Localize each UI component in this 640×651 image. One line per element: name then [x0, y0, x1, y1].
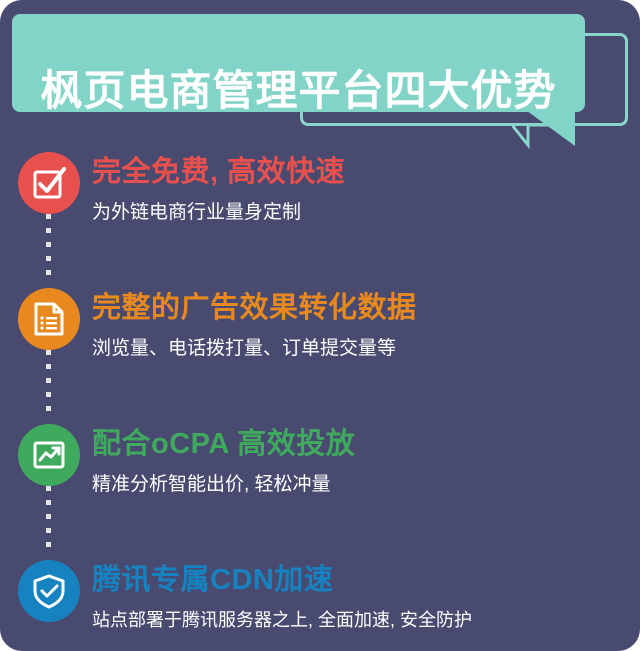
dotted-connector [46, 486, 51, 556]
dotted-connector [46, 350, 51, 420]
feature-subtitle: 精准分析智能出价, 轻松冲量 [92, 459, 632, 497]
feature-icon-badge [18, 152, 80, 214]
feature-icon-badge [18, 560, 80, 622]
feature-subtitle: 为外链电商行业量身定制 [92, 187, 632, 225]
feature-subtitle: 浏览量、电话拨打量、订单提交量等 [92, 323, 632, 361]
infographic-poster: 枫页电商管理平台四大优势 完全免费, 高效快速 为外链电商行业量身定制 [0, 0, 640, 651]
feature-text-block: 腾讯专属CDN加速 站点部署于腾讯服务器之上, 全面加速, 安全防护 [92, 556, 632, 632]
feature-icon-badge [18, 424, 80, 486]
feature-title: 腾讯专属CDN加速 [92, 556, 632, 595]
feature-text-block: 完全免费, 高效快速 为外链电商行业量身定制 [92, 148, 632, 225]
feature-item: 完全免费, 高效快速 为外链电商行业量身定制 [0, 148, 640, 284]
chart-trend-up-icon [30, 436, 68, 474]
feature-subtitle: 站点部署于腾讯服务器之上, 全面加速, 安全防护 [92, 595, 632, 632]
feature-icon-badge [18, 288, 80, 350]
feature-title: 完全免费, 高效快速 [92, 148, 632, 187]
feature-item: 腾讯专属CDN加速 站点部署于腾讯服务器之上, 全面加速, 安全防护 [0, 556, 640, 651]
feature-title: 完整的广告效果转化数据 [92, 284, 632, 323]
feature-title: 配合oCPA 高效投放 [92, 420, 632, 459]
header-banner: 枫页电商管理平台四大优势 [0, 0, 640, 150]
feature-list: 完全免费, 高效快速 为外链电商行业量身定制 [0, 148, 640, 651]
page-title: 枫页电商管理平台四大优势 [12, 42, 585, 140]
feature-text-block: 配合oCPA 高效投放 精准分析智能出价, 轻松冲量 [92, 420, 632, 497]
checkbox-check-icon [29, 163, 69, 203]
dotted-connector [46, 214, 51, 284]
feature-text-block: 完整的广告效果转化数据 浏览量、电话拨打量、订单提交量等 [92, 284, 632, 361]
document-list-icon [30, 300, 68, 338]
feature-item: 完整的广告效果转化数据 浏览量、电话拨打量、订单提交量等 [0, 284, 640, 420]
feature-item: 配合oCPA 高效投放 精准分析智能出价, 轻松冲量 [0, 420, 640, 556]
shield-check-icon [30, 572, 68, 610]
